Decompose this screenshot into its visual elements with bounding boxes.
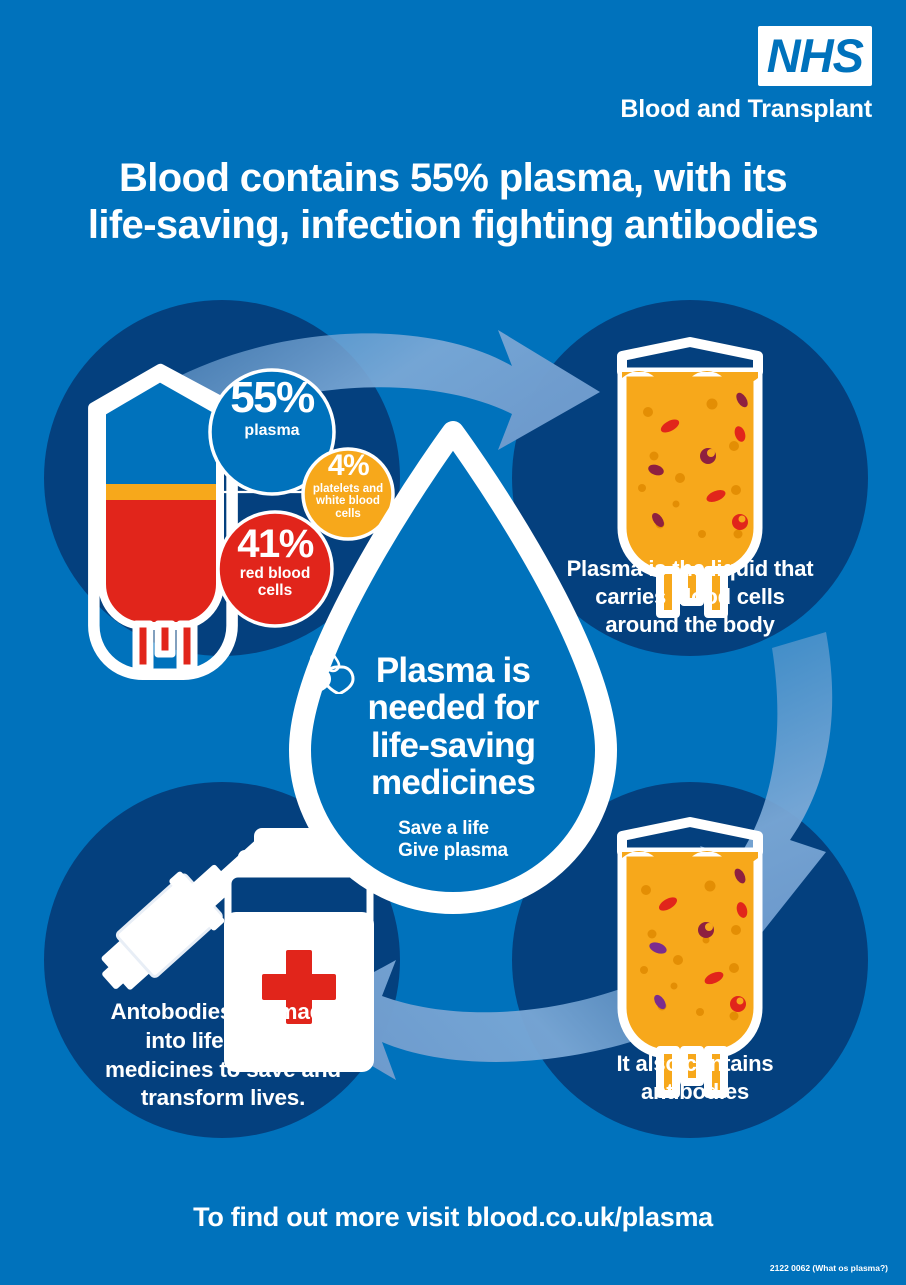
step-caption-bottom-left: Antobodies are made into life-saving med… [68, 998, 378, 1113]
step-bl-line-4: transform lives. [68, 1084, 378, 1113]
brand-slogan-line-1: Save a life [398, 818, 508, 840]
step-tr-line-3: around the body [520, 611, 860, 639]
page-title-line-1: Blood contains 55% plasma, with its [0, 155, 906, 202]
reference-code: 2122 0062 (What os plasma?) [770, 1263, 888, 1273]
step-tr-line-1: Plasma is the liquid that [520, 555, 860, 583]
brand-slogan-line-2: Give plasma [398, 840, 508, 862]
nhs-logo-subtitle: Blood and Transplant [620, 95, 872, 124]
step-caption-top-right: Plasma is the liquid that carries blood … [520, 555, 860, 639]
brand-slogan: Save a life Give plasma [398, 818, 508, 862]
infographic-poster: NHS Blood and Transplant Blood contains … [0, 0, 906, 1285]
bubble-caption-red-cells: red blood cells [220, 565, 330, 600]
nhs-logo-icon: NHS [758, 26, 872, 86]
nhs-brand-header: NHS Blood and Transplant [620, 26, 872, 124]
bubble-value-red-cells: 41% [220, 525, 330, 563]
cycle-diagram: 55% plasma 4% platelets and white blood … [0, 280, 906, 1160]
bubble-caption-plasma: plasma [212, 422, 332, 440]
step-bl-line-1: Antobodies are made [68, 998, 378, 1027]
droplet-line-2: needed for [303, 689, 603, 726]
step-br-line-1: It also contains [540, 1050, 850, 1078]
bubble-label-red-cells: 41% red blood cells [220, 525, 330, 600]
bag-layer-platelets [96, 484, 228, 500]
give-blood-brand-lockup: Save a life Give plasma [303, 818, 603, 862]
bubble-value-plasma: 55% [212, 377, 332, 419]
droplet-line-4: medicines [303, 764, 603, 801]
page-title: Blood contains 55% plasma, with its life… [0, 155, 906, 249]
bubble-label-plasma: 55% plasma [212, 377, 332, 439]
give-blood-hearts-icon [303, 652, 359, 694]
step-br-line-2: antibodies [540, 1078, 850, 1106]
footer-call-to-action[interactable]: To find out more visit blood.co.uk/plasm… [0, 1202, 906, 1233]
bubble-caption-platelets: platelets and white blood cells [306, 483, 390, 522]
step-bl-line-3: medicines to save and [68, 1056, 378, 1085]
bubble-value-platelets: 4% [306, 452, 390, 481]
step-bl-line-2: into life-saving [68, 1027, 378, 1056]
step-caption-bottom-right: It also contains antibodies [540, 1050, 850, 1106]
droplet-line-3: life-saving [303, 727, 603, 764]
step-tr-line-2: carries blood cells [520, 583, 860, 611]
page-title-line-2: life-saving, infection fighting antibodi… [0, 202, 906, 249]
droplet-message: Plasma is needed for life-saving medicin… [303, 652, 603, 861]
bubble-label-platelets: 4% platelets and white blood cells [306, 452, 390, 521]
